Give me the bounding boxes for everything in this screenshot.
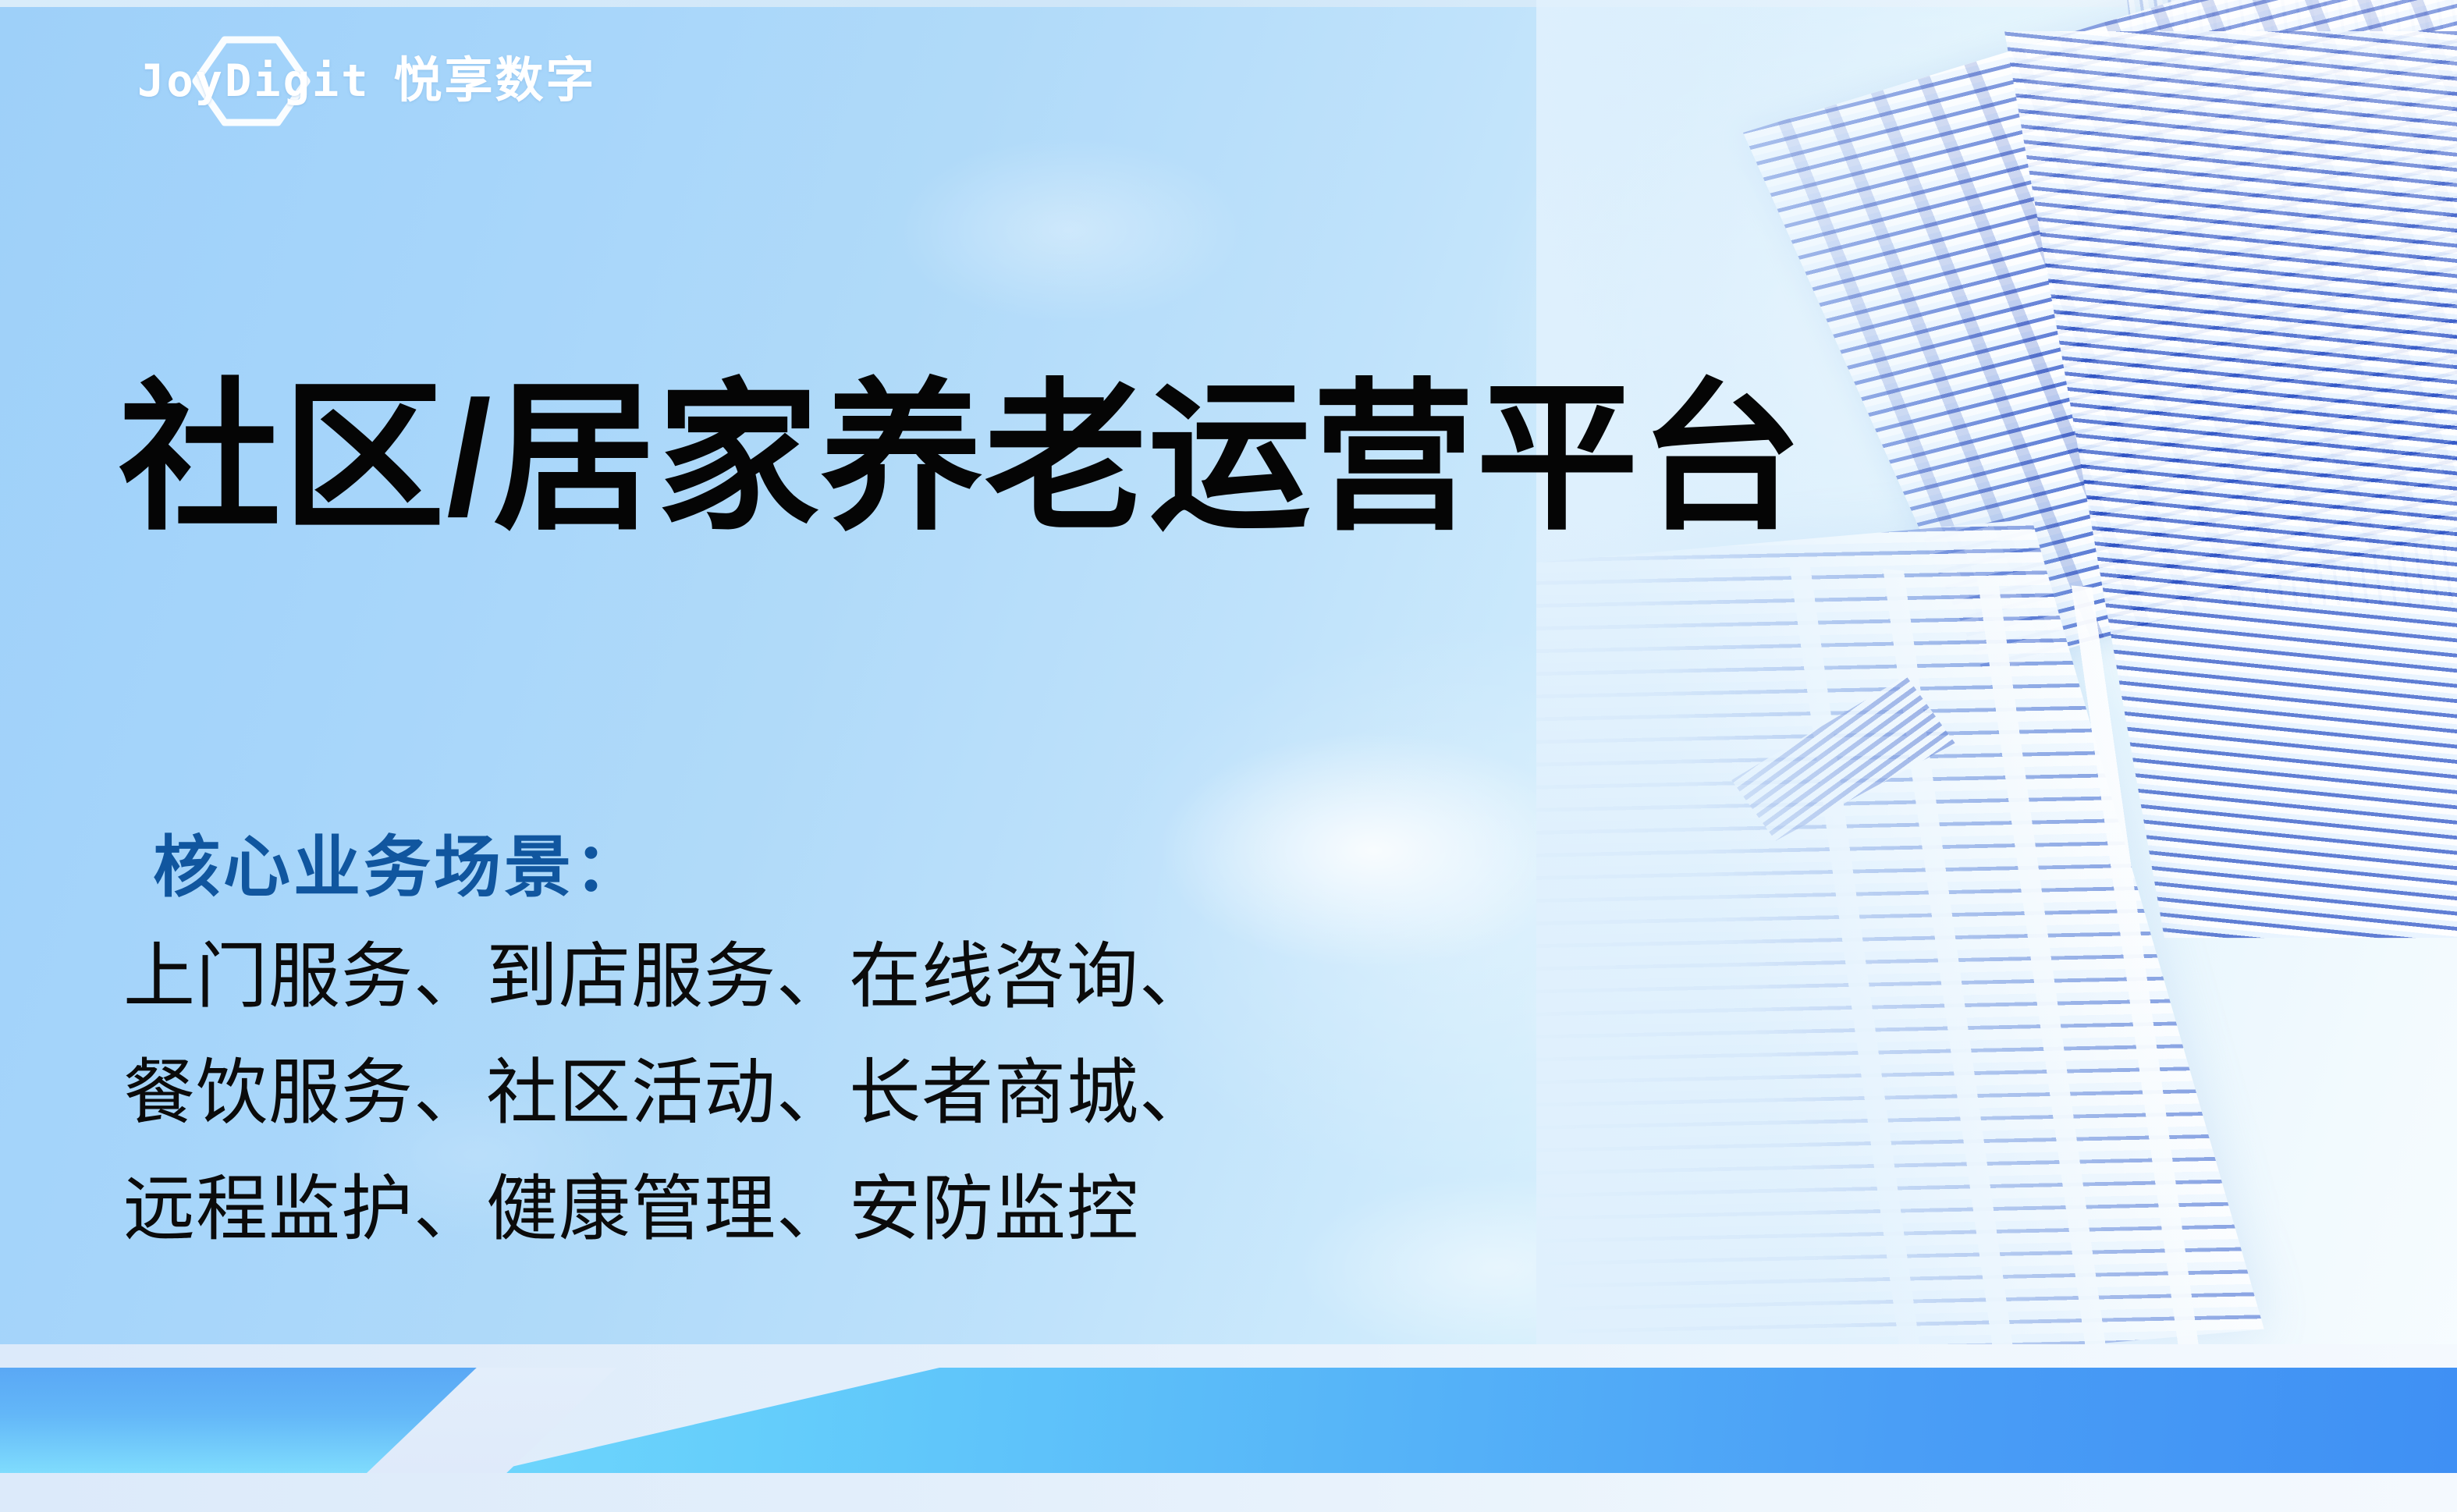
brand-logo: JoyDigit 悦享数字 xyxy=(137,34,597,128)
sky-background xyxy=(0,0,2457,1512)
section-heading: 核心业务场景： xyxy=(153,828,644,908)
presentation-slide: JoyDigit 悦享数字 社区/居家养老运营平台 核心业务场景： 上门服务、到… xyxy=(0,0,2457,1512)
scenario-line: 餐饮服务、社区活动、长者商城、 xyxy=(123,1035,1212,1152)
scenario-list: 上门服务、到店服务、在线咨询、 餐饮服务、社区活动、长者商城、 远程监护、健康管… xyxy=(123,919,1212,1268)
top-edge-strip xyxy=(0,0,2457,7)
logo-mark: JoyDigit xyxy=(137,34,371,128)
page-title: 社区/居家养老运营平台 xyxy=(119,366,1804,552)
logo-wordmark: JoyDigit xyxy=(137,59,371,104)
scenario-line: 上门服务、到店服务、在线咨询、 xyxy=(123,919,1212,1035)
scenario-line: 远程监护、健康管理、安防监控 xyxy=(123,1152,1212,1268)
bottom-ribbon-band xyxy=(0,1325,2457,1512)
logo-chinese-name: 悦享数字 xyxy=(394,57,597,105)
